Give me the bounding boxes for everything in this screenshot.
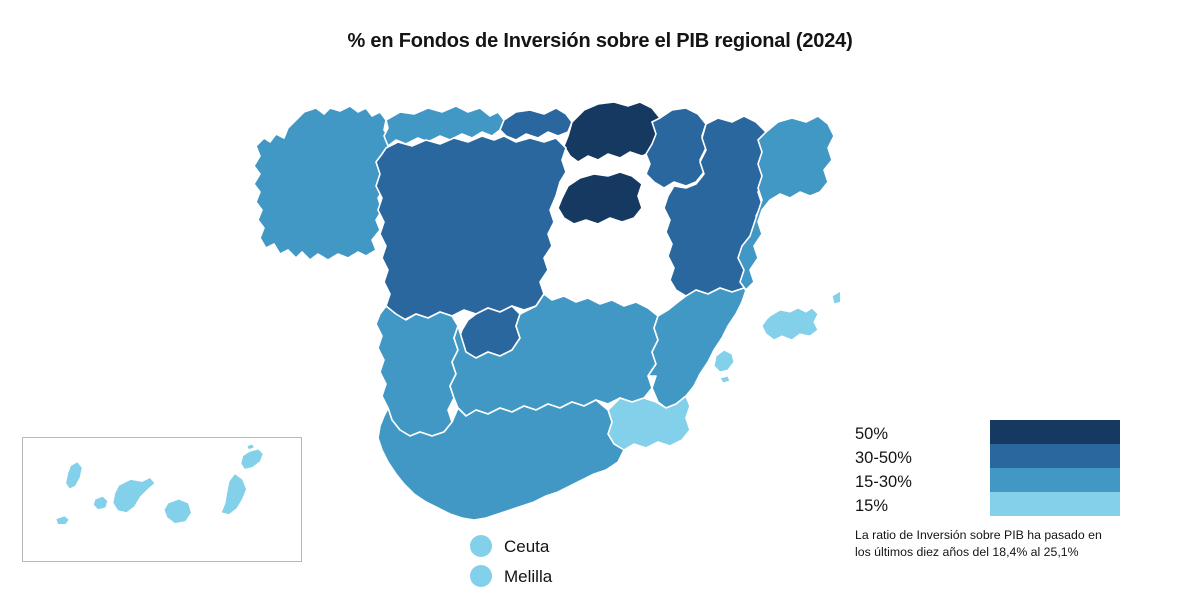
island-la-gomera[interactable] <box>93 496 108 510</box>
enclave-list: Ceuta Melilla <box>470 531 650 591</box>
region-castilla-y-leon[interactable] <box>376 136 566 320</box>
island-lanzarote[interactable] <box>241 449 264 470</box>
legend-label-0: 50% <box>855 422 985 446</box>
island-gran-canaria[interactable] <box>164 499 192 524</box>
legend-label-column: 50% 30-50% 15-30% 15% <box>855 420 985 518</box>
legend-label-3: 15% <box>855 494 985 518</box>
legend-swatch-0[interactable] <box>990 420 1120 444</box>
region-galicia[interactable] <box>254 106 390 260</box>
page-title: % en Fondos de Inversión sobre el PIB re… <box>0 30 1200 53</box>
legend-swatch-column <box>990 420 1120 516</box>
island-menorca[interactable] <box>832 290 840 304</box>
map-legend: 50% 30-50% 15-30% 15% La ratio de Invers… <box>855 420 1130 561</box>
enclave-dot-melilla <box>470 565 492 587</box>
region-navarra[interactable] <box>646 108 706 188</box>
region-comunitat-valenciana[interactable] <box>648 288 746 408</box>
legend-label-1: 30-50% <box>855 446 985 470</box>
legend-swatch-1[interactable] <box>990 444 1120 468</box>
region-la-rioja[interactable] <box>558 172 642 224</box>
enclave-label-melilla: Melilla <box>504 568 552 585</box>
legend-swatch-2[interactable] <box>990 468 1120 492</box>
island-fuerteventura[interactable] <box>221 473 247 514</box>
legend-label-2: 15-30% <box>855 470 985 494</box>
island-mallorca[interactable] <box>762 308 818 340</box>
enclave-row-melilla[interactable]: Melilla <box>470 561 650 591</box>
island-el-hierro[interactable] <box>56 516 70 525</box>
enclave-row-ceuta[interactable]: Ceuta <box>470 531 650 561</box>
legend-swatch-3[interactable] <box>990 492 1120 516</box>
island-formentera[interactable] <box>720 376 730 383</box>
island-la-palma[interactable] <box>66 462 83 490</box>
enclave-dot-ceuta <box>470 535 492 557</box>
legend-body: 50% 30-50% 15-30% 15% <box>855 420 1130 518</box>
region-murcia[interactable] <box>608 396 690 450</box>
island-la-graciosa[interactable] <box>247 444 255 450</box>
map-page: % en Fondos de Inversión sobre el PIB re… <box>0 0 1200 616</box>
legend-note: La ratio de Inversión sobre PIB ha pasad… <box>855 527 1127 561</box>
legend-note-line1: La ratio de Inversión sobre PIB ha pasad… <box>855 527 1127 544</box>
region-pais-vasco[interactable] <box>564 102 660 162</box>
canary-islands-inset <box>22 437 302 562</box>
region-cantabria[interactable] <box>500 108 572 140</box>
island-tenerife[interactable] <box>113 477 155 512</box>
island-ibiza[interactable] <box>714 350 734 372</box>
legend-note-line2: los últimos diez años del 18,4% al 25,1% <box>855 544 1127 561</box>
enclave-label-ceuta: Ceuta <box>504 538 549 555</box>
